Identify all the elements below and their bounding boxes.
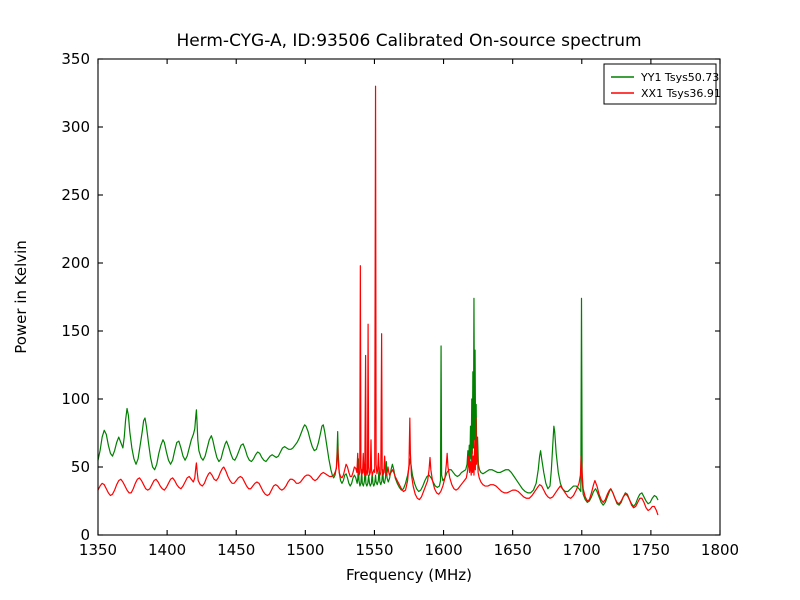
- x-tick-label: 1800: [701, 541, 739, 559]
- y-tick-label: 50: [71, 458, 90, 476]
- y-tick-label: 300: [61, 118, 90, 136]
- x-tick-label: 1700: [563, 541, 601, 559]
- figure-canvas: Herm-CYG-A, ID:93506 Calibrated On-sourc…: [0, 0, 800, 600]
- x-tick-label: 1500: [286, 541, 324, 559]
- y-tick-label: 100: [61, 390, 90, 408]
- x-tick-label: 1650: [494, 541, 532, 559]
- x-axis-title: Frequency (MHz): [346, 566, 472, 584]
- page-title: Herm-CYG-A, ID:93506 Calibrated On-sourc…: [176, 31, 641, 51]
- y-tick-label: 350: [61, 50, 90, 68]
- spectrum-plot: Herm-CYG-A, ID:93506 Calibrated On-sourc…: [0, 0, 800, 600]
- x-tick-label: 1450: [217, 541, 255, 559]
- y-tick-label: 150: [61, 322, 90, 340]
- x-tick-label: 1550: [355, 541, 393, 559]
- x-tick-label: 1750: [632, 541, 670, 559]
- y-tick-label: 250: [61, 186, 90, 204]
- x-tick-label: 1400: [148, 541, 186, 559]
- y-tick-label: 200: [61, 254, 90, 272]
- legend-label-yy1: YY1 Tsys50.73: [640, 71, 719, 84]
- y-axis-title: Power in Kelvin: [12, 240, 30, 354]
- legend-label-xx1: XX1 Tsys36.91: [641, 87, 721, 100]
- y-tick-label: 0: [80, 526, 90, 544]
- x-tick-label: 1600: [424, 541, 462, 559]
